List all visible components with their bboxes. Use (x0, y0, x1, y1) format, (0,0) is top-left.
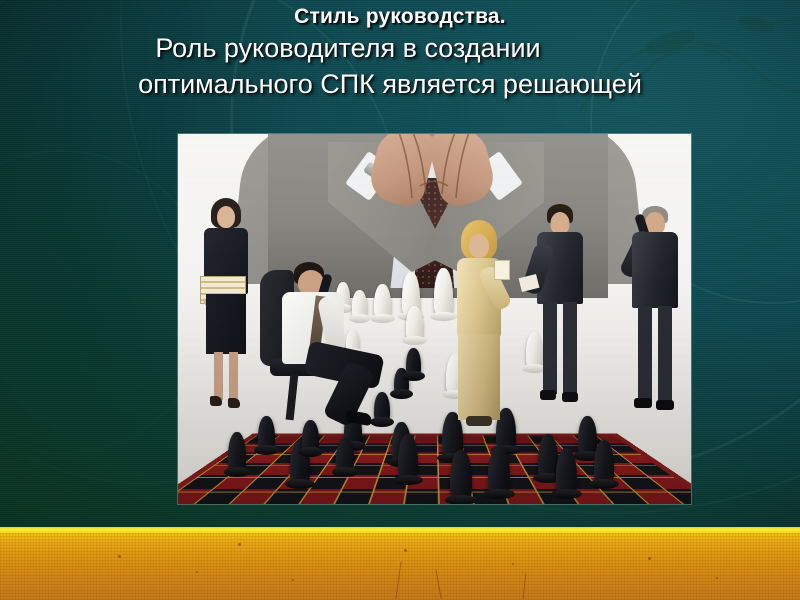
gold-crack (435, 569, 441, 599)
figure-legs (638, 306, 672, 402)
gold-speck (648, 557, 651, 560)
black-chess-piece (594, 440, 614, 484)
gold-crack (523, 573, 527, 599)
subtitle-line-2: оптимального СПК является решающей (0, 66, 800, 102)
figure-head (217, 206, 235, 228)
black-chess-piece (336, 438, 354, 472)
manager-interlaced-fingers (376, 134, 492, 216)
senior-man-on-phone (624, 206, 686, 418)
young-manager (530, 204, 590, 414)
gold-speck (238, 543, 241, 546)
figure-legs (543, 302, 577, 394)
seated-man-on-phone (260, 262, 390, 432)
black-chess-piece (556, 448, 577, 494)
figure-shoes (540, 390, 556, 400)
figure-shoes (210, 396, 222, 406)
page-title: Стиль руководства. (0, 4, 800, 30)
figure-shoes (466, 416, 492, 426)
chess-business-photo (178, 134, 691, 504)
gold-crack (395, 561, 401, 599)
bottom-gold-band (0, 527, 800, 600)
black-chess-piece (488, 446, 510, 494)
slide-title-block: Стиль руководства. Роль руководителя в с… (0, 0, 800, 102)
gold-gradient-body (0, 533, 800, 600)
black-chess-piece (406, 348, 421, 376)
black-chess-piece (228, 432, 246, 472)
subtitle-line-1: Роль руководителя в создании (0, 30, 800, 66)
figure-skirt (206, 294, 246, 354)
figure-shoes (634, 398, 652, 408)
black-chess-piece (450, 450, 472, 500)
gold-speck (292, 579, 294, 581)
gold-speck (404, 549, 407, 552)
figure-document (494, 260, 510, 280)
gold-speck (716, 577, 718, 579)
gold-speck (118, 555, 121, 558)
gold-speck (512, 563, 514, 565)
figure-head (469, 234, 489, 258)
figure-shoes (562, 392, 578, 402)
figure-shoes (656, 400, 674, 410)
woman-in-beige-suit (450, 220, 508, 440)
gold-speck (196, 571, 198, 573)
figure-shoes (228, 398, 240, 408)
figure-skirt (458, 334, 500, 420)
black-chess-piece (538, 434, 558, 478)
office-chair-leg (286, 374, 299, 421)
figure-jacket (632, 232, 678, 308)
black-chess-piece (398, 434, 418, 480)
figure-legs (214, 352, 238, 400)
white-chess-piece (406, 306, 423, 340)
black-chess-piece (578, 416, 597, 456)
presentation-slide: Стиль руководства. Роль руководителя в с… (0, 0, 800, 600)
woman-with-documents (192, 198, 260, 414)
